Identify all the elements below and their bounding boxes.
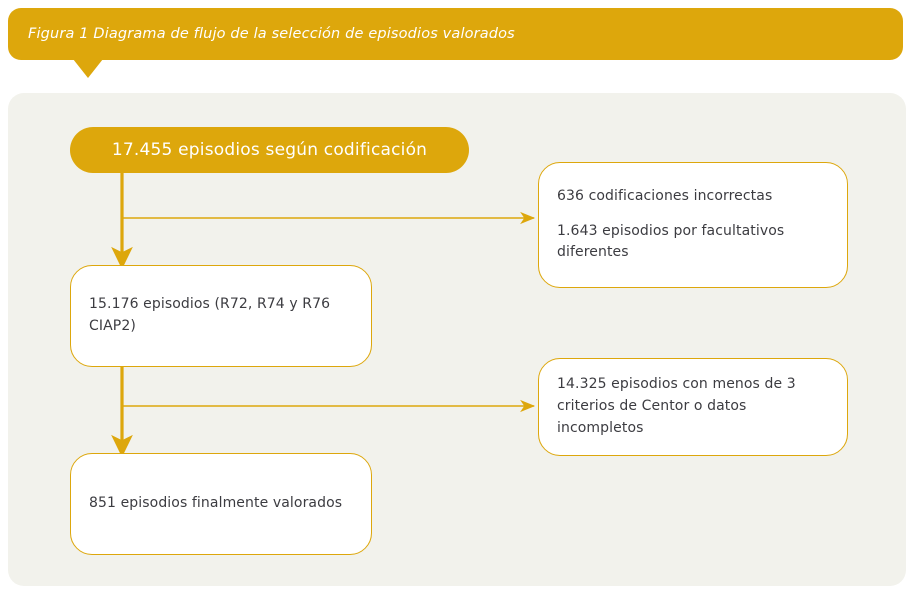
figure-flowchart: Figura 1 Diagrama de flujo de la selecci…	[0, 0, 914, 594]
caption-pointer-triangle	[73, 59, 103, 78]
node-excluded-centor-criteria: 14.325 episodios con menos de 3 criterio…	[538, 358, 848, 456]
node-start-label: 17.455 episodios según codificación	[112, 140, 427, 160]
figure-caption-banner: Figura 1 Diagrama de flujo de la selecci…	[8, 8, 903, 60]
node-excluded-coding-errors: 636 codificaciones incorrectas 1.643 epi…	[538, 162, 848, 288]
figure-caption-text: Figura 1 Diagrama de flujo de la selecci…	[8, 26, 515, 42]
node-excluded-1-line-1: 636 codificaciones incorrectas	[557, 186, 829, 208]
node-final-assessed-episodes: 851 episodios finalmente valorados	[70, 453, 372, 555]
node-episodes-ciap2: 15.176 episodios (R72, R74 y R76 CIAP2)	[70, 265, 372, 367]
node-episodes-by-coding: 17.455 episodios según codificación	[70, 127, 469, 173]
node-coded-label: 15.176 episodios (R72, R74 y R76 CIAP2)	[89, 294, 353, 337]
node-excluded-2-label: 14.325 episodios con menos de 3 criterio…	[557, 374, 829, 439]
node-final-label: 851 episodios finalmente valorados	[89, 493, 353, 515]
node-excluded-1-line-2: 1.643 episodios por facultativos diferen…	[557, 221, 829, 264]
